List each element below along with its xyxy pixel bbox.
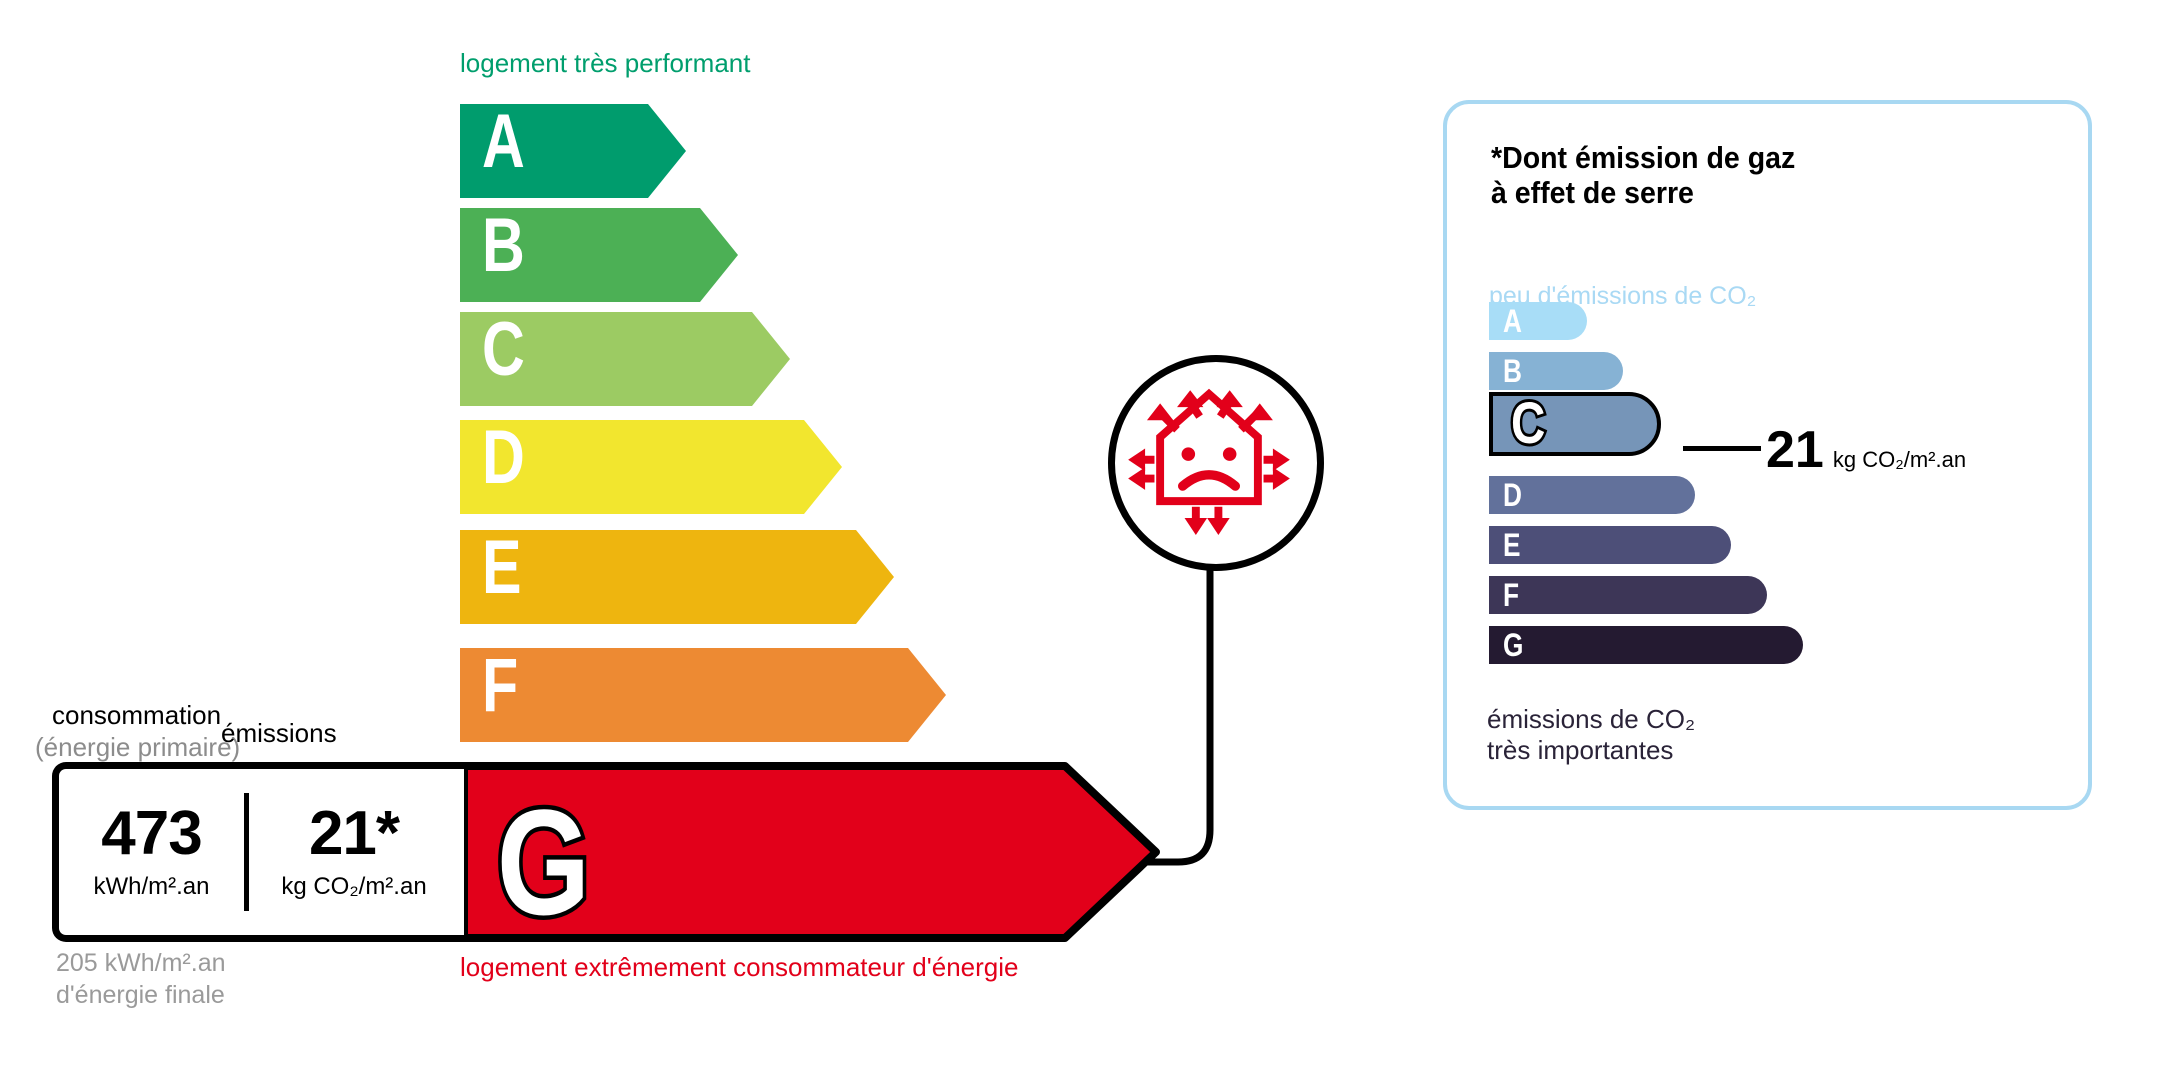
- co2-bar-letter-c: C: [1511, 395, 1545, 453]
- value-cell-divider: [244, 793, 249, 911]
- energy-bar-row-c[interactable]: C: [460, 312, 790, 406]
- co2-bar-letter-a: A: [1503, 305, 1522, 337]
- co2-bottom-caption: émissions de CO₂ très importantes: [1487, 704, 1695, 766]
- heat-loss-badge: [1108, 355, 1324, 571]
- energy-bar-row-g-selected[interactable]: G: [460, 762, 1160, 942]
- energy-bar-row-d[interactable]: D: [460, 420, 842, 514]
- scale-bottom-caption: logement extrêmement consommateur d'éner…: [460, 952, 1018, 983]
- sad-house-heat-loss-icon: [1115, 362, 1303, 550]
- final-energy-note: 205 kWh/m².an d'énergie finale: [56, 947, 226, 1011]
- energy-bar-row-e[interactable]: E: [460, 530, 894, 624]
- emissions-value: 21*: [309, 803, 399, 865]
- consumption-header-sub: (énergie primaire): [35, 732, 240, 763]
- co2-bar-c-selected[interactable]: C: [1489, 392, 1661, 456]
- co2-value-unit: kg CO₂/m².an: [1833, 447, 1966, 473]
- co2-panel-title: *Dont émission de gaz à effet de serre: [1491, 140, 1795, 211]
- emissions-value-unit: kg CO₂/m².an: [281, 873, 426, 901]
- co2-value: 21: [1766, 424, 1824, 476]
- arrow-shape-g: G: [460, 762, 1160, 942]
- co2-bar-letter-d: D: [1503, 479, 1522, 511]
- emissions-value-cell: 21* kg CO₂/m².an: [244, 769, 464, 935]
- emissions-header-label: émissions: [221, 718, 337, 749]
- co2-bar-f[interactable]: F: [1489, 576, 1767, 614]
- rating-values-panel: 473 kWh/m².an 21* kg CO₂/m².an: [52, 762, 464, 942]
- co2-bar-d[interactable]: D: [1489, 476, 1695, 514]
- energy-bar-letter-c: C: [482, 312, 722, 388]
- energy-bar-letter-a: A: [482, 104, 641, 180]
- energy-bar-letter-b: B: [482, 208, 682, 284]
- consumption-value-cell: 473 kWh/m².an: [59, 769, 244, 935]
- energy-bar-letter-e: E: [482, 530, 803, 606]
- energy-bar-row-a[interactable]: A: [460, 104, 686, 198]
- consumption-value: 473: [101, 803, 201, 865]
- co2-bar-e[interactable]: E: [1489, 526, 1731, 564]
- energy-bar-row-f[interactable]: F: [460, 648, 946, 742]
- scale-top-caption: logement très performant: [460, 48, 750, 79]
- co2-bar-letter-b: B: [1503, 355, 1522, 387]
- consumption-value-unit: kWh/m².an: [93, 873, 209, 901]
- energy-bar-letter-d: D: [482, 420, 763, 496]
- co2-bar-b[interactable]: B: [1489, 352, 1623, 390]
- consumption-header-label: consommation: [52, 700, 221, 731]
- co2-callout-line: [1683, 446, 1761, 451]
- co2-bar-letter-g: G: [1503, 629, 1523, 661]
- energy-bar-row-b[interactable]: B: [460, 208, 738, 302]
- energy-bar-letter-g: G: [497, 778, 590, 942]
- energy-performance-scale: logement très performant A B C D E: [0, 0, 1400, 1079]
- co2-bar-letter-e: E: [1503, 529, 1521, 561]
- co2-bar-g[interactable]: G: [1489, 626, 1803, 664]
- co2-callout: 21 kg CO₂/m².an: [1766, 424, 1966, 476]
- co2-bar-letter-f: F: [1503, 579, 1519, 611]
- energy-bar-letter-f: F: [482, 648, 844, 724]
- co2-bar-a[interactable]: A: [1489, 302, 1587, 340]
